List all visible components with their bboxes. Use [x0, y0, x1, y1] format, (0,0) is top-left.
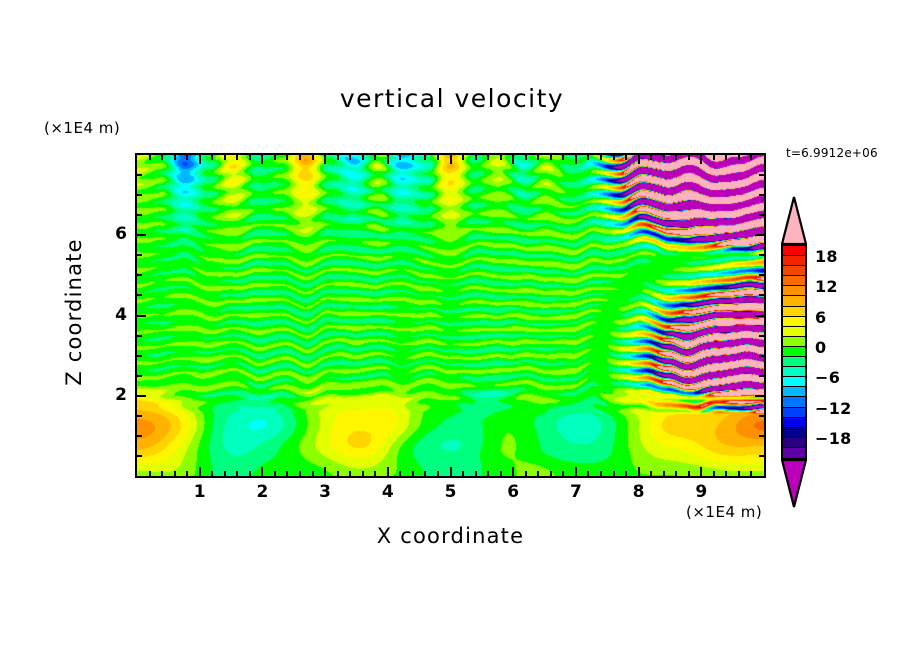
axis-tick: [750, 155, 752, 160]
axis-tick: [613, 471, 615, 476]
axis-tick: [700, 467, 702, 476]
axis-tick: [274, 471, 276, 476]
axis-tick: [700, 155, 702, 164]
axis-tick: [638, 155, 640, 164]
x-tick-label: 7: [561, 482, 591, 502]
axis-tick: [236, 471, 238, 476]
x-tick-label: 5: [436, 482, 466, 502]
axis-tick: [725, 471, 727, 476]
axis-tick: [688, 155, 690, 160]
axis-tick: [625, 471, 627, 476]
axis-tick: [399, 155, 401, 160]
axis-tick: [512, 155, 514, 164]
axis-tick: [137, 174, 142, 176]
colorbar-tick-label: −12: [815, 399, 852, 418]
axis-tick: [587, 471, 589, 476]
colorbar-segment: [783, 256, 805, 266]
colorbar-segment: [783, 317, 805, 327]
colorbar-segment: [783, 266, 805, 276]
colorbar-segment: [783, 377, 805, 387]
colorbar: [781, 196, 807, 508]
colorbar-segment: [783, 438, 805, 448]
axis-tick: [675, 471, 677, 476]
axis-tick: [424, 155, 426, 160]
axis-tick: [137, 294, 142, 296]
axis-tick: [725, 155, 727, 160]
axis-tick: [161, 471, 163, 476]
x-tick-label: 3: [310, 482, 340, 502]
axis-tick: [759, 194, 764, 196]
axis-tick: [249, 155, 251, 160]
axis-tick: [199, 467, 201, 476]
axis-tick: [399, 471, 401, 476]
axis-tick: [759, 355, 764, 357]
colorbar-over-arrow-icon: [781, 196, 807, 245]
x-tick-label: 9: [686, 482, 716, 502]
axis-tick: [137, 355, 142, 357]
x-axis-unit-label: (×1E4 m): [686, 503, 762, 521]
axis-tick: [755, 395, 764, 397]
colorbar-segment: [783, 337, 805, 347]
axis-tick: [759, 294, 764, 296]
axis-tick: [759, 415, 764, 417]
axis-tick: [349, 471, 351, 476]
axis-tick: [525, 155, 527, 160]
axis-tick: [211, 471, 213, 476]
axis-tick: [149, 471, 151, 476]
axis-tick: [587, 155, 589, 160]
axis-tick: [387, 155, 389, 164]
axis-tick: [562, 155, 564, 160]
axis-tick: [362, 471, 364, 476]
axis-tick: [224, 155, 226, 160]
axis-tick: [149, 155, 151, 160]
colorbar-segment: [783, 357, 805, 367]
axis-tick: [759, 274, 764, 276]
axis-tick: [374, 155, 376, 160]
axis-tick: [312, 155, 314, 160]
axis-tick: [450, 155, 452, 164]
axis-tick: [475, 471, 477, 476]
x-tick-label: 4: [373, 482, 403, 502]
axis-tick: [137, 194, 142, 196]
axis-tick: [424, 471, 426, 476]
axis-tick: [324, 155, 326, 164]
axis-tick: [349, 155, 351, 160]
colorbar-tick-label: −18: [815, 429, 852, 448]
axis-tick: [713, 471, 715, 476]
axis-tick: [537, 155, 539, 160]
x-tick-label: 1: [185, 482, 215, 502]
axis-tick: [650, 155, 652, 160]
axis-tick: [550, 155, 552, 160]
x-tick-label: 8: [624, 482, 654, 502]
axis-tick: [663, 471, 665, 476]
y-tick-label: 2: [97, 385, 127, 405]
axis-tick: [174, 155, 176, 160]
colorbar-tick-label: 18: [815, 247, 838, 266]
axis-tick: [137, 214, 142, 216]
axis-tick: [261, 155, 263, 164]
colorbar-tick-label: 6: [815, 308, 826, 327]
axis-tick: [755, 315, 764, 317]
axis-tick: [161, 155, 163, 160]
axis-tick: [137, 415, 142, 417]
colorbar-tick-label: 12: [815, 277, 838, 296]
axis-tick: [675, 155, 677, 160]
time-stamp-label: t=6.9912e+06: [786, 146, 878, 160]
x-tick-label: 2: [247, 482, 277, 502]
axis-tick: [512, 467, 514, 476]
axis-tick: [650, 471, 652, 476]
axis-tick: [312, 471, 314, 476]
colorbar-segment: [783, 367, 805, 377]
axis-tick: [224, 471, 226, 476]
axis-tick: [759, 455, 764, 457]
axis-tick: [759, 435, 764, 437]
axis-tick: [550, 471, 552, 476]
axis-tick: [137, 335, 142, 337]
axis-tick: [249, 471, 251, 476]
colorbar-segment: [783, 448, 805, 458]
axis-tick: [299, 155, 301, 160]
axis-tick: [759, 214, 764, 216]
axis-tick: [759, 375, 764, 377]
axis-tick: [638, 467, 640, 476]
colorbar-segment: [783, 408, 805, 418]
z-axis-unit-label: (×1E4 m): [44, 119, 120, 137]
axis-tick: [462, 471, 464, 476]
axis-tick: [137, 254, 142, 256]
axis-tick: [663, 155, 665, 160]
colorbar-segment: [783, 296, 805, 306]
axis-tick: [412, 155, 414, 160]
axis-tick: [713, 155, 715, 160]
axis-tick: [537, 471, 539, 476]
axis-tick: [500, 471, 502, 476]
colorbar-segment: [783, 246, 805, 256]
axis-tick: [525, 471, 527, 476]
axis-tick: [286, 155, 288, 160]
axis-tick: [174, 471, 176, 476]
axis-tick: [437, 471, 439, 476]
colorbar-segment: [783, 307, 805, 317]
axis-tick: [387, 467, 389, 476]
axis-tick: [613, 155, 615, 160]
axis-tick: [750, 471, 752, 476]
axis-ticks-layer: [137, 155, 764, 476]
axis-tick: [437, 155, 439, 160]
axis-tick: [186, 155, 188, 160]
axis-tick: [500, 155, 502, 160]
colorbar-segment: [783, 276, 805, 286]
page-title: vertical velocity: [0, 84, 904, 113]
colorbar-under-arrow-icon: [781, 459, 807, 508]
axis-tick: [600, 471, 602, 476]
axis-tick: [337, 155, 339, 160]
axis-tick: [137, 395, 146, 397]
axis-tick: [261, 467, 263, 476]
y-tick-label: 6: [97, 224, 127, 244]
axis-tick: [137, 274, 142, 276]
axis-tick: [688, 471, 690, 476]
colorbar-segment: [783, 418, 805, 428]
axis-tick: [286, 471, 288, 476]
y-axis-title: Z coordinate: [62, 212, 86, 412]
colorbar-tick-label: −6: [815, 368, 840, 387]
colorbar-segment: [783, 286, 805, 296]
axis-tick: [137, 234, 146, 236]
colorbar-segment: [783, 428, 805, 438]
axis-tick: [562, 471, 564, 476]
axis-tick: [274, 155, 276, 160]
axis-tick: [487, 471, 489, 476]
axis-tick: [487, 155, 489, 160]
axis-tick: [759, 174, 764, 176]
axis-tick: [450, 467, 452, 476]
axis-tick: [186, 471, 188, 476]
colorbar-segment: [783, 387, 805, 397]
axis-tick: [600, 155, 602, 160]
axis-tick: [337, 471, 339, 476]
axis-tick: [299, 471, 301, 476]
colorbar-segment: [783, 327, 805, 337]
axis-tick: [462, 155, 464, 160]
y-tick-label: 4: [97, 305, 127, 325]
axis-tick: [324, 467, 326, 476]
colorbar-tick-label: 0: [815, 338, 826, 357]
axis-tick: [236, 155, 238, 160]
axis-tick: [575, 155, 577, 164]
axis-tick: [374, 471, 376, 476]
axis-tick: [759, 335, 764, 337]
axis-tick: [755, 234, 764, 236]
axis-tick: [199, 155, 201, 164]
axis-tick: [759, 254, 764, 256]
axis-tick: [738, 155, 740, 160]
axis-tick: [137, 435, 142, 437]
axis-tick: [412, 471, 414, 476]
colorbar-segment: [783, 347, 805, 357]
contour-plot-area: [135, 153, 766, 478]
colorbar-body: [781, 244, 807, 460]
axis-tick: [362, 155, 364, 160]
axis-tick: [575, 467, 577, 476]
axis-tick: [211, 155, 213, 160]
colorbar-segment: [783, 397, 805, 407]
axis-tick: [137, 455, 142, 457]
axis-tick: [137, 375, 142, 377]
axis-tick: [738, 471, 740, 476]
x-axis-title: X coordinate: [135, 524, 766, 548]
axis-tick: [625, 155, 627, 160]
x-tick-label: 6: [498, 482, 528, 502]
axis-tick: [137, 315, 146, 317]
axis-tick: [475, 155, 477, 160]
